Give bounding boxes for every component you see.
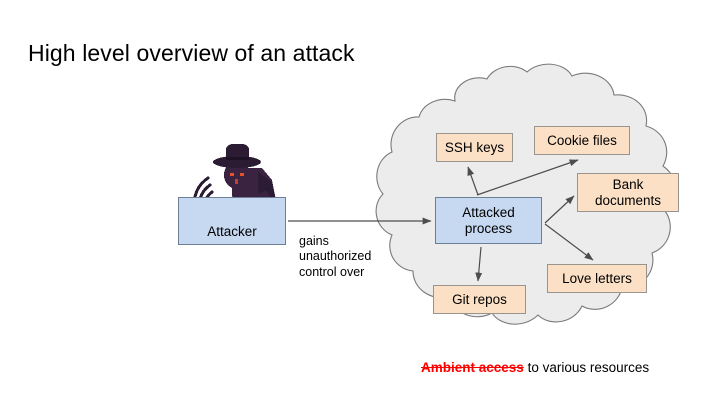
resource-node-ssh-keys[interactable]: SSH keys bbox=[436, 133, 513, 162]
resource-label-bank-documents: Bank documents bbox=[595, 177, 661, 209]
resource-label-love-letters: Love letters bbox=[562, 271, 632, 287]
resource-label-ssh-keys: SSH keys bbox=[445, 140, 504, 156]
resource-node-cookie-files[interactable]: Cookie files bbox=[534, 126, 630, 155]
resource-node-bank-documents[interactable]: Bank documents bbox=[577, 173, 679, 212]
resource-node-git-repos[interactable]: Git repos bbox=[433, 285, 526, 314]
attacker-label: Attacker bbox=[207, 224, 257, 240]
attacked-process-label: Attacked process bbox=[462, 205, 515, 237]
resource-node-love-letters[interactable]: Love letters bbox=[547, 264, 647, 293]
footer-rest-text: to various resources bbox=[524, 360, 649, 375]
edge-label-line-3: control over bbox=[299, 265, 371, 280]
resource-label-git-repos: Git repos bbox=[452, 292, 507, 308]
footer-struck-text: Ambient access bbox=[421, 360, 524, 375]
footer-caption: Ambient access to various resources bbox=[421, 360, 649, 375]
attacked-process-node[interactable]: Attacked process bbox=[435, 197, 542, 244]
edge-label-line-2: unauthorized bbox=[299, 249, 371, 264]
edge-label-gains-unauthorized-control: gains unauthorized control over bbox=[299, 234, 371, 280]
slide-canvas: High level overview of an attack bbox=[0, 0, 720, 405]
attacker-node[interactable]: Attacker bbox=[178, 197, 286, 245]
edge-label-line-1: gains bbox=[299, 234, 371, 249]
resource-label-cookie-files: Cookie files bbox=[547, 133, 617, 149]
